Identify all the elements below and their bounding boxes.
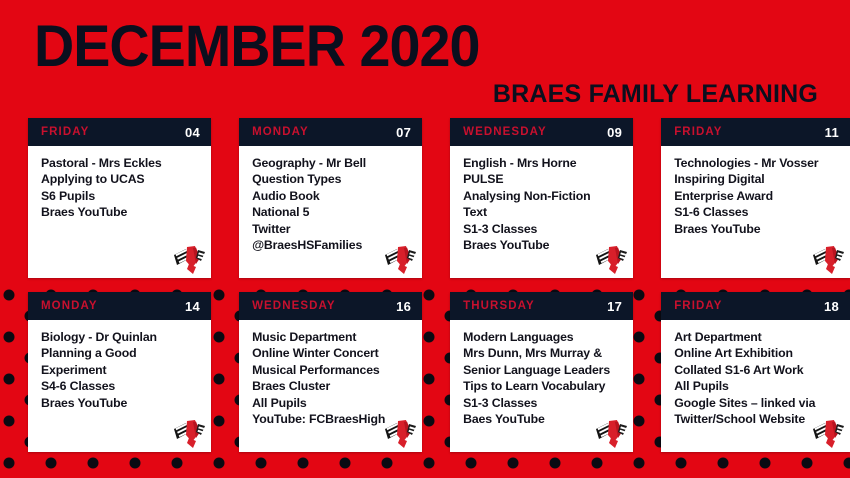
card-body: English - Mrs HornePULSEAnalysing Non-Fi… — [450, 146, 633, 278]
brand-title: BRAES FAMILY LEARNING — [493, 80, 818, 109]
card-day-label: FRIDAY — [41, 126, 89, 138]
card-detail-line: Mrs Dunn, Mrs Murray & — [463, 345, 625, 361]
page-title: DECEMBER 2020 — [34, 13, 480, 80]
card-detail-line: Technologies - Mr Vosser — [674, 155, 842, 171]
card-detail-line: Braes YouTube — [463, 237, 625, 253]
calendar-row-1: FRIDAY04Pastoral - Mrs EcklesApplying to… — [0, 118, 850, 278]
card-date-number: 04 — [185, 125, 200, 140]
card-day-label: THURSDAY — [463, 300, 535, 312]
card-detail-line: S4-6 Classes — [41, 378, 203, 394]
card-detail-line: Planning a Good — [41, 345, 203, 361]
card-header: FRIDAY11 — [661, 118, 850, 146]
card-detail-line: Audio Book — [252, 188, 414, 204]
card-date-number: 14 — [185, 299, 200, 314]
calendar-row-2: MONDAY14Biology - Dr QuinlanPlanning a G… — [0, 292, 850, 452]
calendar-card[interactable]: WEDNESDAY09English - Mrs HornePULSEAnaly… — [450, 118, 633, 278]
card-detail-line: Experiment — [41, 362, 203, 378]
card-detail-line: Modern Languages — [463, 329, 625, 345]
card-body: Pastoral - Mrs EcklesApplying to UCASS6 … — [28, 146, 211, 278]
card-header: WEDNESDAY16 — [239, 292, 422, 320]
calendar-card[interactable]: MONDAY07Geography - Mr BellQuestion Type… — [239, 118, 422, 278]
card-detail-line: All Pupils — [252, 395, 414, 411]
card-detail-line: Tips to Learn Vocabulary — [463, 378, 625, 394]
card-detail-line: Question Types — [252, 171, 414, 187]
card-detail-line: Braes YouTube — [674, 221, 842, 237]
card-detail-line: S1-3 Classes — [463, 395, 625, 411]
card-detail-line: Art Department — [674, 329, 842, 345]
card-date-number: 11 — [825, 125, 839, 140]
card-header: FRIDAY18 — [661, 292, 850, 320]
calendar-card[interactable]: MONDAY14Biology - Dr QuinlanPlanning a G… — [28, 292, 211, 452]
card-detail-line: Text — [463, 204, 625, 220]
card-header: FRIDAY04 — [28, 118, 211, 146]
calendar-card[interactable]: THURSDAY17Modern LanguagesMrs Dunn, Mrs … — [450, 292, 633, 452]
card-date-number: 16 — [396, 299, 411, 314]
card-date-number: 18 — [824, 299, 839, 314]
card-detail-line: S6 Pupils — [41, 188, 203, 204]
card-detail-line: Analysing Non-Fiction — [463, 188, 625, 204]
card-detail-line: Geography - Mr Bell — [252, 155, 414, 171]
card-detail-line: Online Art Exhibition — [674, 345, 842, 361]
calendar-card[interactable]: FRIDAY18Art DepartmentOnline Art Exhibit… — [661, 292, 850, 452]
card-detail-line: PULSE — [463, 171, 625, 187]
card-detail-line: English - Mrs Horne — [463, 155, 625, 171]
card-day-label: MONDAY — [41, 300, 98, 312]
card-day-label: MONDAY — [252, 126, 309, 138]
card-detail-line: Online Winter Concert — [252, 345, 414, 361]
card-detail-line: Musical Performances — [252, 362, 414, 378]
card-detail-line: S1-3 Classes — [463, 221, 625, 237]
card-day-label: FRIDAY — [674, 300, 722, 312]
poster-header: DECEMBER 2020 BRAES FAMILY LEARNING — [0, 0, 850, 118]
card-body: Biology - Dr QuinlanPlanning a GoodExper… — [28, 320, 211, 452]
card-detail-line: Braes YouTube — [41, 395, 203, 411]
card-detail-line: Twitter — [252, 221, 414, 237]
card-detail-line: All Pupils — [674, 378, 842, 394]
card-detail-line: Collated S1-6 Art Work — [674, 362, 842, 378]
card-detail-line: Twitter/School Website — [674, 411, 842, 427]
calendar-card[interactable]: WEDNESDAY16Music DepartmentOnline Winter… — [239, 292, 422, 452]
card-detail-line: Music Department — [252, 329, 414, 345]
card-date-number: 09 — [607, 125, 622, 140]
card-day-label: FRIDAY — [674, 126, 722, 138]
card-detail-line: Braes YouTube — [41, 204, 203, 220]
calendar-grid: FRIDAY04Pastoral - Mrs EcklesApplying to… — [0, 118, 850, 478]
braes-high-school-logo-icon — [812, 244, 846, 276]
card-header: THURSDAY17 — [450, 292, 633, 320]
card-detail-line: YouTube: FCBraesHigh — [252, 411, 414, 427]
card-body: Art DepartmentOnline Art ExhibitionColla… — [661, 320, 850, 452]
card-body: Technologies - Mr VosserInspiring Digita… — [661, 146, 850, 278]
card-header: MONDAY07 — [239, 118, 422, 146]
card-detail-line: Enterprise Award — [674, 188, 842, 204]
card-detail-line: National 5 — [252, 204, 414, 220]
card-header: WEDNESDAY09 — [450, 118, 633, 146]
card-detail-line: Pastoral - Mrs Eckles — [41, 155, 203, 171]
card-detail-line: S1-6 Classes — [674, 204, 842, 220]
card-detail-line: @BraesHSFamilies — [252, 237, 414, 253]
card-date-number: 07 — [396, 125, 411, 140]
card-date-number: 17 — [607, 299, 622, 314]
card-body: Music DepartmentOnline Winter ConcertMus… — [239, 320, 422, 452]
braes-high-school-logo-icon — [173, 418, 207, 450]
card-detail-line: Biology - Dr Quinlan — [41, 329, 203, 345]
card-detail-line: Google Sites – linked via — [674, 395, 842, 411]
card-day-label: WEDNESDAY — [252, 300, 336, 312]
card-detail-line: Inspiring Digital — [674, 171, 842, 187]
card-day-label: WEDNESDAY — [463, 126, 547, 138]
card-detail-line: Applying to UCAS — [41, 171, 203, 187]
card-detail-line: Senior Language Leaders — [463, 362, 625, 378]
card-header: MONDAY14 — [28, 292, 211, 320]
braes-high-school-logo-icon — [173, 244, 207, 276]
calendar-card[interactable]: FRIDAY04Pastoral - Mrs EcklesApplying to… — [28, 118, 211, 278]
card-detail-line: Braes Cluster — [252, 378, 414, 394]
card-detail-line: Baes YouTube — [463, 411, 625, 427]
card-body: Modern LanguagesMrs Dunn, Mrs Murray &Se… — [450, 320, 633, 452]
card-body: Geography - Mr BellQuestion TypesAudio B… — [239, 146, 422, 278]
calendar-card[interactable]: FRIDAY11Technologies - Mr VosserInspirin… — [661, 118, 850, 278]
